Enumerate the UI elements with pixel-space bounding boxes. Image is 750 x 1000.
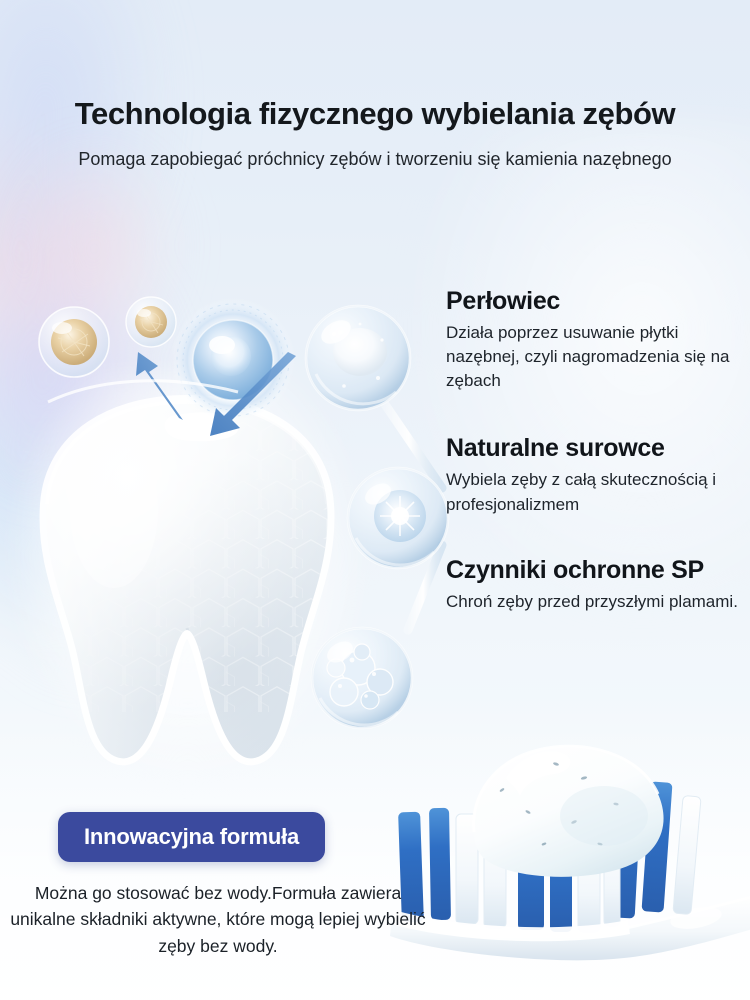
feature-title: Naturalne surowce bbox=[446, 433, 746, 463]
page-title: Technologia fizycznego wybielania zębów bbox=[0, 96, 750, 132]
feature-description: Działa poprzez usuwanie płytki nazębnej,… bbox=[446, 321, 746, 393]
stain-particle-large bbox=[39, 307, 109, 377]
feature-description: Wybiela zęby z całą skutecznością i prof… bbox=[446, 468, 746, 516]
feature-title: Czynniki ochronne SP bbox=[446, 555, 746, 585]
cluster-bubble-icon bbox=[312, 628, 412, 728]
page-subtitle: Pomaga zapobiegać próchnicy zębów i twor… bbox=[75, 146, 675, 172]
feature-item-naturalne-surowce: Naturalne surowce Wybiela zęby z całą sk… bbox=[446, 433, 746, 516]
stain-particle-small bbox=[126, 297, 176, 347]
infographic-stage: Technologia fizycznego wybielania zębów … bbox=[0, 0, 750, 1000]
feature-list: Perłowiec Działa poprzez usuwanie płytki… bbox=[446, 286, 746, 636]
toothbrush-with-paste-icon bbox=[378, 720, 750, 1000]
feature-description: Chroń zęby przed przyszłymi plamami. bbox=[446, 590, 746, 614]
footer-description: Można go stosować bez wody.Formuła zawie… bbox=[8, 880, 428, 959]
pearl-bubble-icon bbox=[306, 306, 410, 410]
feature-item-czynniki-ochronne-sp: Czynniki ochronne SP Chroń zęby przed pr… bbox=[446, 555, 746, 614]
arrow-targeting-tooth-icon bbox=[186, 352, 306, 462]
arrow-removing-stains-icon bbox=[136, 352, 183, 420]
crystal-bubble-icon bbox=[348, 468, 448, 568]
toothpaste-blob bbox=[474, 746, 664, 877]
innovative-formula-badge[interactable]: Innowacyjna formuła bbox=[58, 812, 325, 862]
feature-item-perlowiec: Perłowiec Działa poprzez usuwanie płytki… bbox=[446, 286, 746, 393]
feature-title: Perłowiec bbox=[446, 286, 746, 316]
header: Technologia fizycznego wybielania zębów … bbox=[0, 96, 750, 172]
